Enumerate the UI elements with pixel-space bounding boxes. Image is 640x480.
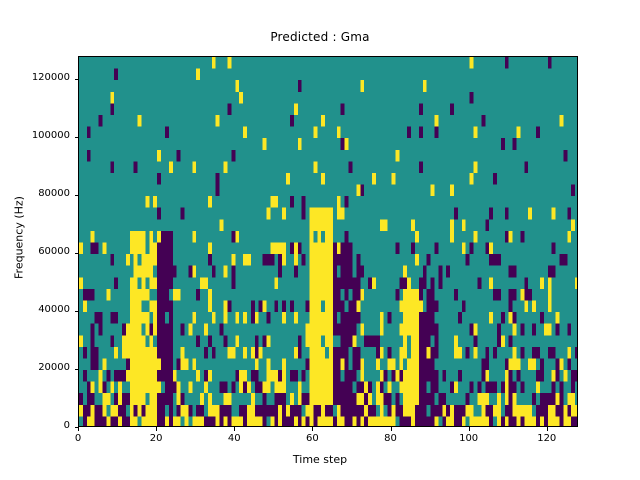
x-tick-label: 0 <box>48 433 108 444</box>
y-tick-mark <box>75 427 79 428</box>
x-tick-mark <box>391 427 392 431</box>
y-tick-mark <box>75 253 79 254</box>
y-tick-mark <box>75 137 79 138</box>
y-tick-mark <box>75 311 79 312</box>
x-axis-label: Time step <box>0 453 640 466</box>
y-tick-label: 20000 <box>4 362 70 373</box>
y-axis-label: Frequency (Hz) <box>13 128 26 348</box>
x-tick-mark <box>547 427 548 431</box>
heatmap-axes <box>78 56 578 427</box>
y-tick-label: 120000 <box>4 72 70 83</box>
x-tick-mark <box>78 427 79 431</box>
x-tick-label: 40 <box>204 433 264 444</box>
x-tick-mark <box>156 427 157 431</box>
x-tick-label: 80 <box>361 433 421 444</box>
matplotlib-figure: Predicted : Gma 020406080100120020000400… <box>0 0 640 480</box>
x-tick-mark <box>234 427 235 431</box>
y-tick-mark <box>75 195 79 196</box>
plot-title: Predicted : Gma <box>0 30 640 44</box>
x-tick-mark <box>469 427 470 431</box>
y-tick-label: 0 <box>4 420 70 431</box>
x-tick-label: 20 <box>126 433 186 444</box>
heatmap-image <box>79 57 578 427</box>
x-tick-label: 60 <box>282 433 342 444</box>
x-tick-label: 100 <box>439 433 499 444</box>
y-tick-mark <box>75 369 79 370</box>
x-tick-label: 120 <box>517 433 577 444</box>
x-tick-mark <box>312 427 313 431</box>
y-tick-mark <box>75 79 79 80</box>
